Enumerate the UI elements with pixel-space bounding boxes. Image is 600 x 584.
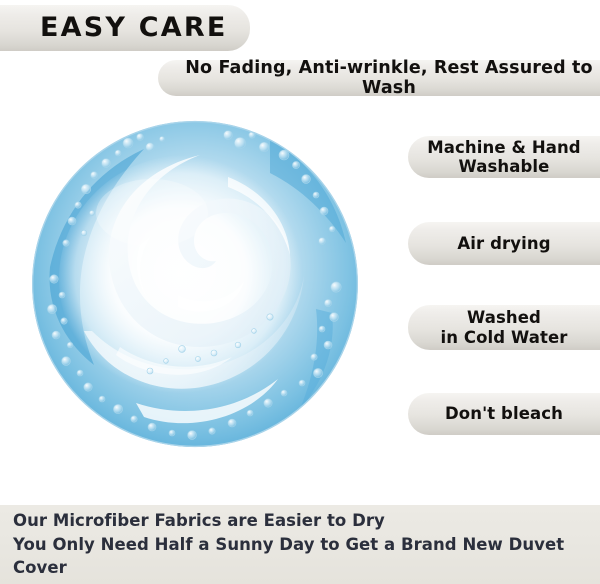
feature-label: Don't bleach	[445, 404, 563, 423]
subtitle-text: No Fading, Anti-wrinkle, Rest Assured to…	[178, 58, 600, 99]
feature-line: Don't bleach	[445, 404, 563, 423]
footer-line-1: Our Microfiber Fabrics are Easier to Dry	[13, 509, 600, 533]
feature-machine-hand-washable: Machine & Hand Washable	[408, 136, 600, 178]
subtitle-banner: No Fading, Anti-wrinkle, Rest Assured to…	[158, 60, 600, 96]
feature-dont-bleach: Don't bleach	[408, 393, 600, 435]
feature-line: Washed	[440, 308, 567, 327]
page-title: EASY CARE	[40, 12, 227, 43]
feature-line: Air drying	[457, 234, 550, 253]
feature-line: in Cold Water	[440, 328, 567, 347]
feature-line: Machine & Hand	[427, 138, 580, 157]
feature-label: Air drying	[457, 234, 550, 253]
feature-washed-in-cold-water: Washed in Cold Water	[408, 305, 600, 350]
easy-care-infographic: EASY CARE No Fading, Anti-wrinkle, Rest …	[0, 0, 600, 584]
feature-air-drying: Air drying	[408, 222, 600, 265]
footer-line-2: You Only Need Half a Sunny Day to Get a …	[13, 533, 600, 581]
page-title-banner: EASY CARE	[0, 5, 250, 51]
laundry-in-soapy-water-image	[32, 117, 358, 451]
feature-label: Machine & Hand Washable	[427, 138, 580, 176]
soapy-water-illustration	[32, 117, 358, 451]
feature-line: Washable	[427, 157, 580, 176]
footer-banner: Our Microfiber Fabrics are Easier to Dry…	[0, 505, 600, 584]
feature-label: Washed in Cold Water	[440, 308, 567, 346]
